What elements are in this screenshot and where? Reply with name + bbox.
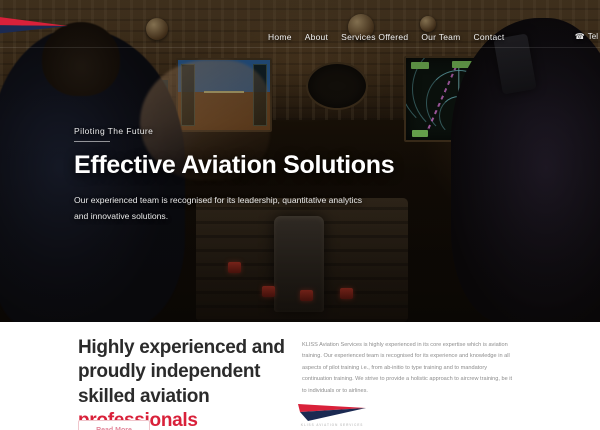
nav-item-services-offered[interactable]: Services Offered	[341, 32, 408, 42]
hero-eyebrow: Piloting The Future	[74, 126, 404, 136]
section-logo-caption: KLISS AVIATION SERVICES	[294, 423, 370, 427]
section-heading: Highly experienced and proudly independe…	[78, 336, 288, 430]
hero-content: Piloting The Future Effective Aviation S…	[74, 126, 404, 225]
section-heading-line-1: Highly experienced and	[78, 337, 285, 358]
nav-item-contact[interactable]: Contact	[473, 32, 504, 42]
logo-swoosh-icon	[0, 12, 96, 42]
hero-eyebrow-rule	[74, 141, 110, 142]
hero-title: Effective Aviation Solutions	[74, 151, 404, 180]
logo-delta-icon	[294, 402, 370, 423]
read-more-button[interactable]: Read More	[78, 420, 150, 430]
page-root: S CES Home About Services Offered Our Te…	[0, 0, 600, 430]
phone-icon: ☎	[575, 32, 585, 41]
section-heading-line-2: proudly independent	[78, 361, 260, 382]
primary-navigation: Home About Services Offered Our Team Con…	[268, 32, 505, 42]
section-heading-line-3: skilled aviation	[78, 386, 209, 407]
hero-subtitle: Our experienced team is recognised for i…	[74, 193, 374, 225]
section-body-text: KLISS Aviation Services is highly experi…	[302, 340, 517, 397]
site-header: S CES Home About Services Offered Our Te…	[0, 0, 600, 66]
site-logo[interactable]: S CES	[0, 12, 96, 60]
nav-item-home[interactable]: Home	[268, 32, 292, 42]
phone-label: Tel	[588, 32, 598, 41]
nav-item-our-team[interactable]: Our Team	[421, 32, 460, 42]
section-logo: KLISS AVIATION SERVICES	[294, 402, 370, 428]
nav-item-about[interactable]: About	[305, 32, 328, 42]
header-phone[interactable]: ☎ Tel	[575, 32, 598, 41]
